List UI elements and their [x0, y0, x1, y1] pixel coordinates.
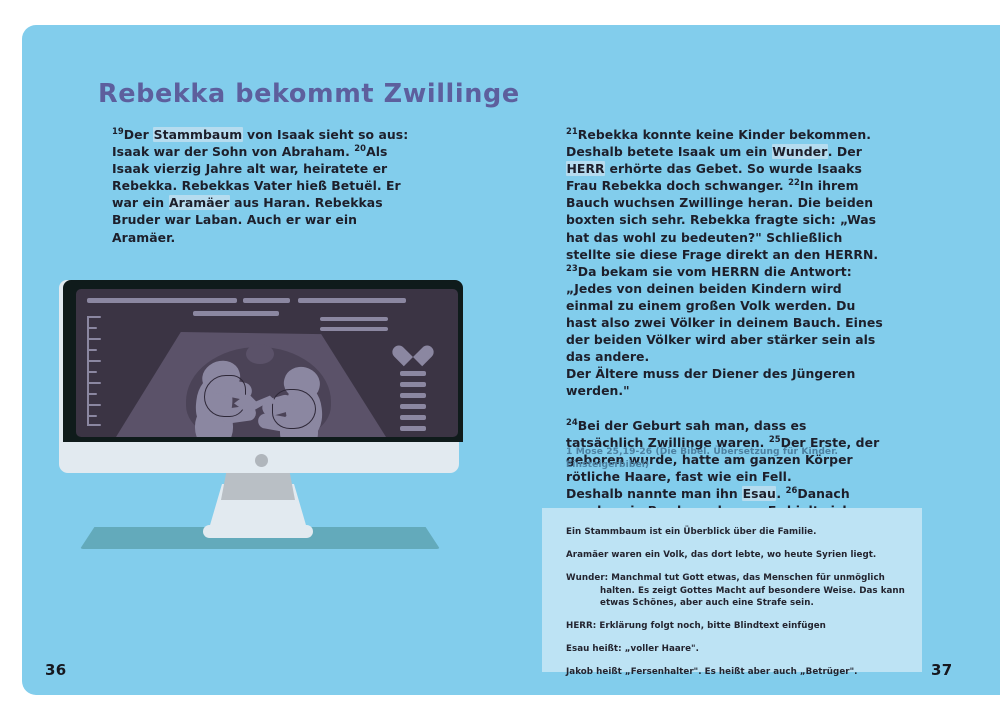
- signal-bar: [400, 404, 426, 409]
- ultrasound-screen: [76, 289, 458, 437]
- term-stammbaum: Stammbaum: [153, 127, 243, 142]
- ruler-tick: [87, 316, 101, 318]
- monitor-body: [59, 280, 459, 473]
- verse-number-25: 25: [769, 433, 781, 443]
- measurement-ruler: [87, 316, 103, 426]
- term-wunder: Wunder: [772, 144, 828, 159]
- verse-number-24: 24: [566, 416, 578, 426]
- ui-bar-top-4: [193, 311, 279, 316]
- glossary-entry-herr: HERR: Erklärung folgt noch, bitte Blindt…: [566, 620, 906, 632]
- ui-bar-top-3: [298, 298, 406, 303]
- page-number-right: 37: [931, 661, 952, 679]
- verse-number-19: 19: [112, 126, 124, 136]
- glossary-entry-wunder: Wunder: Manchmal tut Gott etwas, das Men…: [566, 572, 906, 609]
- ui-bar-top-1: [87, 298, 237, 303]
- term-aramaeer: Aramäer: [169, 195, 230, 210]
- glossary-panel: Ein Stammbaum ist ein Überblick über die…: [542, 508, 922, 672]
- verse-number-21: 21: [566, 126, 578, 136]
- glossary-entries: Ein Stammbaum ist ein Überblick über die…: [566, 526, 906, 679]
- monitor-bezel: [63, 280, 463, 442]
- heart-icon: [400, 337, 426, 361]
- ui-bar-top-2: [243, 298, 290, 303]
- glossary-entry-jakob: Jakob heißt „Fersenhalter". Es heißt abe…: [566, 666, 906, 678]
- verse-number-26: 26: [786, 485, 798, 495]
- signal-bar: [400, 393, 426, 398]
- ultrasound-monitor-illustration: [55, 280, 475, 640]
- left-text-b: Als Isaak vierzig Jahre alt war, heirate…: [112, 144, 401, 244]
- right-paragraph-1: 21Rebekka konnte keine Kinder bekommen. …: [566, 126, 886, 400]
- source-citation: 1 Mose 25,19-26 (Die Bibel. Übersetzung …: [566, 446, 896, 472]
- ruler-tick: [87, 360, 101, 362]
- page-number-left: 36: [45, 661, 66, 679]
- ruler-tick: [87, 371, 97, 373]
- signal-bar: [400, 415, 426, 420]
- verse-number-22: 22: [788, 177, 800, 187]
- sac-notch: [246, 344, 274, 364]
- ruler-tick: [87, 327, 97, 329]
- verse-number-23: 23: [566, 263, 578, 273]
- ruler-tick: [87, 404, 101, 406]
- ruler-tick: [87, 415, 97, 417]
- ruler-tick: [87, 382, 101, 384]
- glossary-entry-stammbaum: Ein Stammbaum ist ein Überblick über die…: [566, 526, 906, 538]
- twin-a-outline: [204, 375, 246, 417]
- glossary-entry-aramaeer: Aramäer waren ein Volk, das dort lebte, …: [566, 549, 906, 561]
- ruler-tick: [87, 338, 101, 340]
- ui-bar-right-1: [320, 317, 388, 321]
- signal-bar: [400, 382, 426, 387]
- glossary-entry-esau: Esau heißt: „voller Haare".: [566, 643, 906, 655]
- left-text-column: 19Der Stammbaum von Isaak sieht so aus: …: [112, 126, 422, 246]
- signal-bar: [400, 371, 426, 376]
- right-text-c: Da bekam sie vom HERRN die Antwort: „Jed…: [566, 264, 883, 399]
- ruler-tick: [87, 424, 101, 426]
- twin-b-outline: [272, 389, 316, 429]
- page-spread: Rebekka bekommt Zwillinge 19Der Stammbau…: [0, 0, 1000, 722]
- term-herr: HERR: [566, 161, 605, 176]
- page-title: Rebekka bekommt Zwillinge: [98, 79, 520, 109]
- ruler-tick: [87, 393, 97, 395]
- left-paragraph-1: 19Der Stammbaum von Isaak sieht so aus: …: [112, 126, 422, 246]
- ui-bar-right-2: [320, 327, 388, 331]
- term-esau: Esau: [742, 486, 776, 501]
- ruler-tick: [87, 349, 97, 351]
- signal-bar: [400, 426, 426, 431]
- verse-number-20: 20: [354, 143, 366, 153]
- monitor-power-indicator: [255, 454, 268, 467]
